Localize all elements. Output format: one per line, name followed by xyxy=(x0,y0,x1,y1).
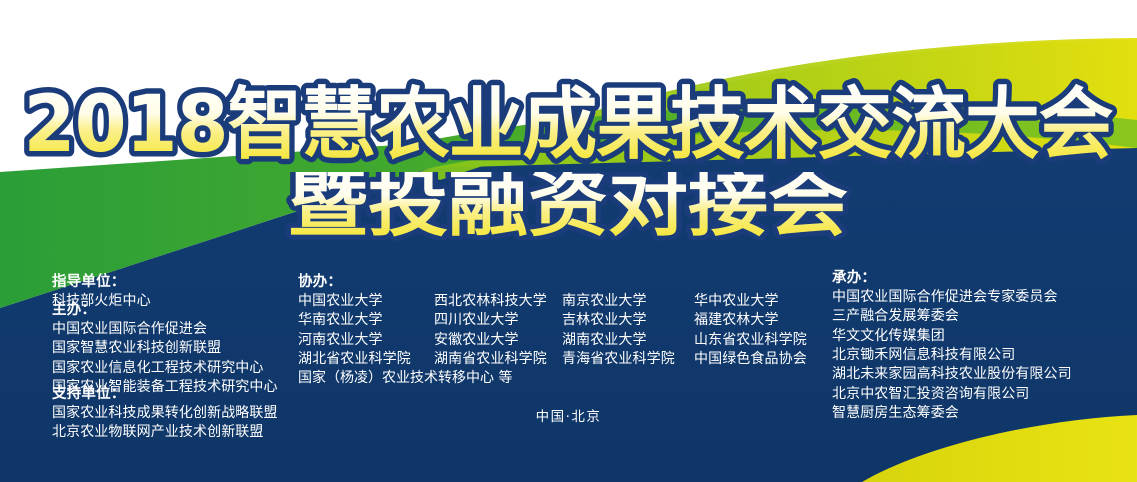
co-organizer-heading: 协办： xyxy=(298,272,814,292)
co-organizer-item: 青海省农业科学院 xyxy=(562,350,694,369)
guide-unit-heading: 指导单位： xyxy=(52,272,151,292)
organizer-item: 三产融合发展筹委会 xyxy=(832,307,1072,326)
co-organizer-item: 河南农业大学 xyxy=(298,331,434,350)
host-unit-heading: 主办： xyxy=(52,300,278,320)
co-organizer-item: 华中农业大学 xyxy=(694,292,814,311)
main-title-text: 2018智慧农业成果技术交流大会 xyxy=(24,79,1113,170)
co-organizer-item: 湖南农业大学 xyxy=(562,331,694,350)
organizer-item: 北京锄禾网信息科技有限公司 xyxy=(832,346,1072,365)
organizer-item: 湖北未来家园高科技农业股份有限公司 xyxy=(832,365,1072,384)
conference-banner: 2018智慧农业成果技术交流大会 暨投融资对接会 指导单位： 科技部火 xyxy=(0,0,1137,482)
host-unit-block: 主办： 中国农业国际合作促进会 国家智慧农业科技创新联盟 国家农业信息化工程技术… xyxy=(52,300,278,397)
co-organizer-item: 四川农业大学 xyxy=(434,311,562,330)
host-unit-item: 中国农业国际合作促进会 xyxy=(52,320,278,339)
organizer-heading: 承办： xyxy=(832,268,1072,288)
organizer-item: 中国农业国际合作促进会专家委员会 xyxy=(832,288,1072,307)
co-organizer-block: 协办： 中国农业大学 西北农林科技大学 南京农业大学 华中农业大学 华南农业大学… xyxy=(298,272,814,389)
support-unit-item: 北京农业物联网产业技术创新联盟 xyxy=(52,423,278,442)
co-organizer-grid: 中国农业大学 西北农林科技大学 南京农业大学 华中农业大学 华南农业大学 四川农… xyxy=(298,292,814,369)
co-organizer-item: 福建农林大学 xyxy=(694,311,814,330)
co-organizer-item: 西北农林科技大学 xyxy=(434,292,562,311)
organizer-item: 华文文化传媒集团 xyxy=(832,327,1072,346)
co-organizer-item: 湖南省农业科学院 xyxy=(434,350,562,369)
host-unit-item: 国家农业信息化工程技术研究中心 xyxy=(52,359,278,378)
banner-sub-title: 暨投融资对接会 xyxy=(0,172,1137,252)
co-organizer-item: 中国农业大学 xyxy=(298,292,434,311)
host-unit-item: 国家智慧农业科技创新联盟 xyxy=(52,339,278,358)
co-organizer-item: 华南农业大学 xyxy=(298,311,434,330)
sub-title-text: 暨投融资对接会 xyxy=(288,172,848,246)
co-organizer-item: 湖北省农业科学院 xyxy=(298,350,434,369)
co-organizer-item: 安徽农业大学 xyxy=(434,331,562,350)
co-organizer-item: 中国绿色食品协会 xyxy=(694,350,814,369)
co-organizer-item: 南京农业大学 xyxy=(562,292,694,311)
co-organizer-last-line: 国家（杨凌）农业技术转移中心 等 xyxy=(298,369,814,388)
event-location: 中国·北京 xyxy=(0,405,1137,425)
support-unit-heading: 支持单位： xyxy=(52,384,278,404)
co-organizer-item: 吉林农业大学 xyxy=(562,311,694,330)
organizer-item: 北京中农智汇投资咨询有限公司 xyxy=(832,385,1072,404)
banner-main-title: 2018智慧农业成果技术交流大会 xyxy=(0,78,1137,170)
co-organizer-item: 山东省农业科学院 xyxy=(694,331,814,350)
organizer-block: 承办： 中国农业国际合作促进会专家委员会 三产融合发展筹委会 华文文化传媒集团 … xyxy=(832,268,1072,423)
